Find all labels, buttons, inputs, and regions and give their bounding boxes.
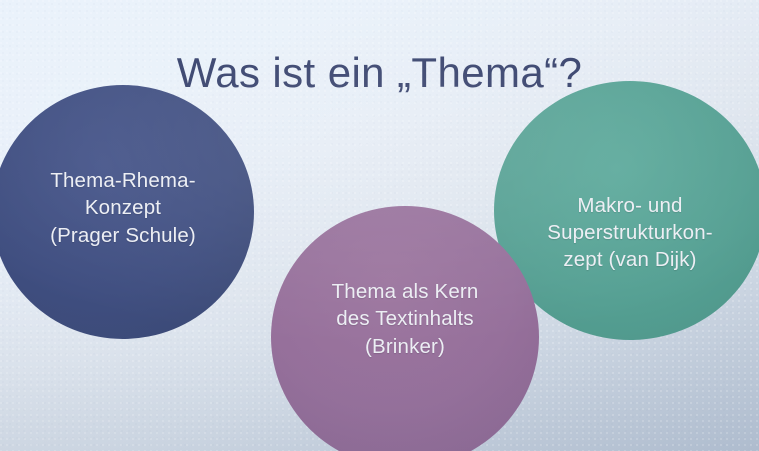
bubble-thema-rhema-label: Thema-Rhema- Konzept (Prager Schule) bbox=[0, 167, 254, 248]
slide-canvas: Was ist ein „Thema“? Thema-Rhema- Konzep… bbox=[0, 0, 759, 451]
bubble-thema-als-kern-label: Thema als Kern des Textinhalts (Brinker) bbox=[271, 278, 539, 359]
bubble-makro-superstruktur-label: Makro- und Superstrukturkon- zept (van D… bbox=[494, 192, 759, 273]
page-title: Was ist ein „Thema“? bbox=[0, 50, 759, 96]
bubble-thema-rhema[interactable]: Thema-Rhema- Konzept (Prager Schule) bbox=[0, 85, 254, 339]
bubble-thema-als-kern[interactable]: Thema als Kern des Textinhalts (Brinker) bbox=[271, 206, 539, 451]
